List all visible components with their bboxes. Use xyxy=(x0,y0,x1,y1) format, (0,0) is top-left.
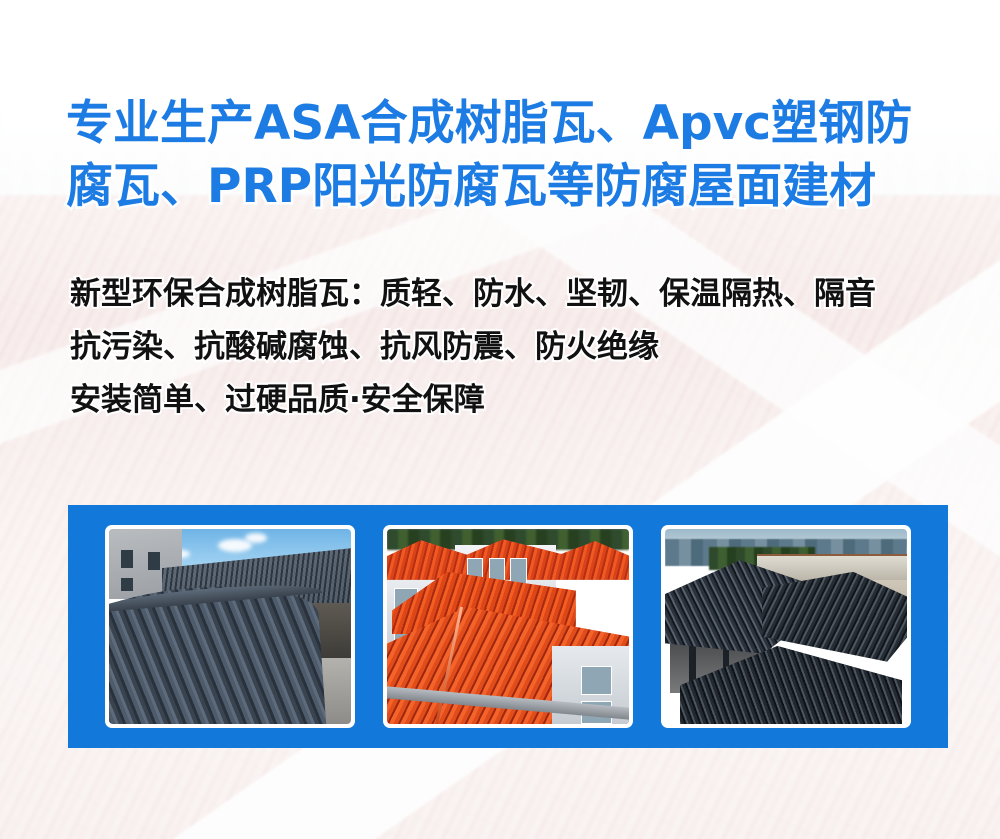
headline-line-1: 专业生产ASA合成树脂瓦、Apvc塑钢防 xyxy=(66,92,946,155)
headline-line-2: 腐瓦、PRP阳光防腐瓦等防腐屋面建材 xyxy=(66,155,946,218)
feature-list: 新型环保合成树脂瓦：质轻、防水、坚韧、保温隔热、隔音 抗污染、抗酸碱腐蚀、抗风防… xyxy=(70,268,970,427)
photo2-window xyxy=(581,666,612,695)
dark-tile-roof-photo xyxy=(665,529,907,724)
photo1-cloud xyxy=(245,533,267,543)
photo-frame-2[interactable] xyxy=(383,525,633,728)
photo-frame-3[interactable] xyxy=(661,525,911,728)
feature-line-2: 抗污染、抗酸碱腐蚀、抗风防震、防火绝缘 xyxy=(70,321,970,374)
grey-tile-roof-photo xyxy=(109,529,351,724)
photo-frame-1[interactable] xyxy=(105,525,355,728)
product-banner: 专业生产ASA合成树脂瓦、Apvc塑钢防 腐瓦、PRP阳光防腐瓦等防腐屋面建材 … xyxy=(0,0,1000,839)
photo-gallery-panel xyxy=(68,505,948,748)
banner-headline: 专业生产ASA合成树脂瓦、Apvc塑钢防 腐瓦、PRP阳光防腐瓦等防腐屋面建材 xyxy=(66,92,946,218)
photo1-window xyxy=(148,552,160,570)
red-tile-roof-photo xyxy=(387,529,629,724)
feature-line-3: 安装简单、过硬品质·安全保障 xyxy=(70,374,970,427)
photo1-window xyxy=(121,578,133,592)
feature-line-1: 新型环保合成树脂瓦：质轻、防水、坚韧、保温隔热、隔音 xyxy=(70,268,970,321)
photo2-far-red-roofs xyxy=(387,537,629,580)
photo1-window xyxy=(121,550,133,568)
